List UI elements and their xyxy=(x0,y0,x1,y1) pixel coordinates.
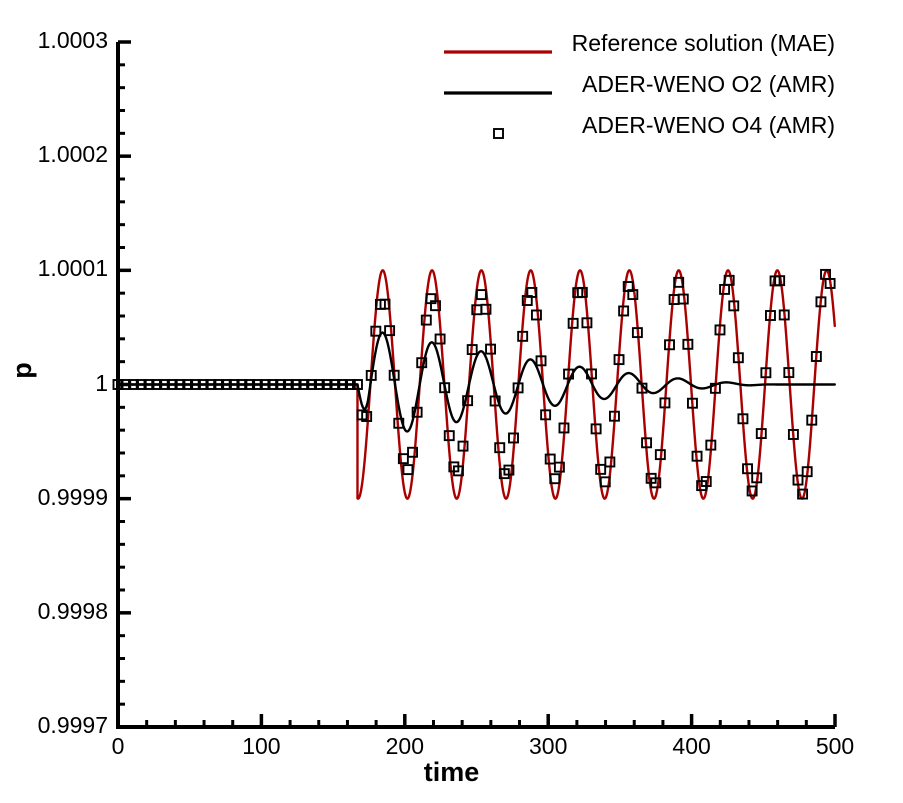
data-marker-square xyxy=(459,442,468,451)
x-tick-label: 500 xyxy=(775,733,895,760)
figure-canvas: time p Reference solution (MAE) ADER-WEN… xyxy=(0,0,903,803)
data-marker-square xyxy=(477,290,486,299)
legend-label-o2: ADER-WENO O2 (AMR) xyxy=(450,71,835,98)
x-tick-label: 400 xyxy=(632,733,752,760)
x-tick-label: 200 xyxy=(345,733,465,760)
y-tick-label: 0.9998 xyxy=(0,598,108,625)
x-axis-label: time xyxy=(0,757,903,788)
x-tick-label: 300 xyxy=(488,733,608,760)
y-tick-label: 1 xyxy=(0,370,108,397)
data-marker-square xyxy=(371,327,380,336)
data-marker-square xyxy=(546,455,555,464)
y-tick-label: 0.9999 xyxy=(0,484,108,511)
y-tick-label: 1.0003 xyxy=(0,27,108,54)
y-tick-label: 1.0001 xyxy=(0,255,108,282)
x-tick-label: 0 xyxy=(58,733,178,760)
legend-label-o4: ADER-WENO O4 (AMR) xyxy=(450,112,835,139)
data-marker-square xyxy=(403,465,412,474)
y-tick-label: 1.0002 xyxy=(0,141,108,168)
data-marker-square xyxy=(385,326,394,335)
legend-label-reference: Reference solution (MAE) xyxy=(450,30,835,57)
x-tick-label: 100 xyxy=(201,733,321,760)
